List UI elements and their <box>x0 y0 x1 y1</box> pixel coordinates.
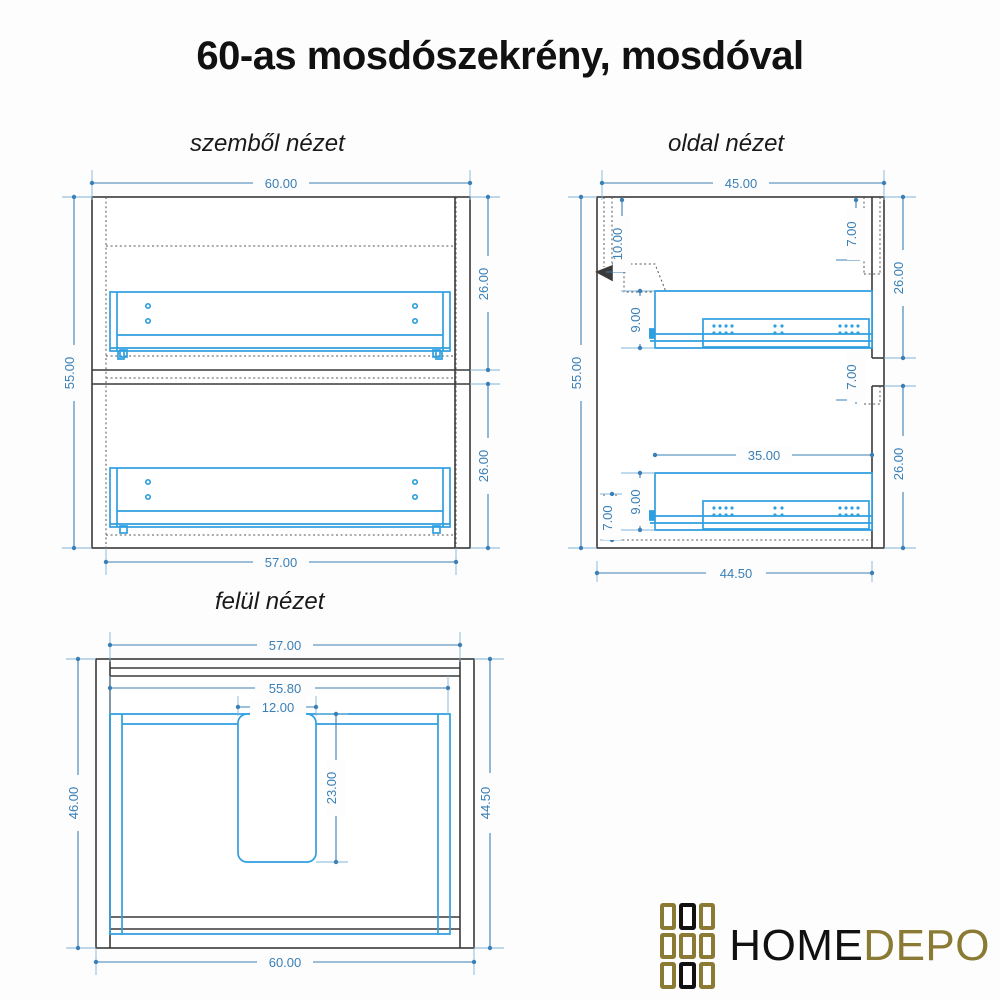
logo-cell <box>699 903 715 930</box>
dim-side-lower-height: 26.00 <box>891 448 906 481</box>
top-view-basin <box>110 714 450 934</box>
logo-cell <box>699 962 715 989</box>
dim-top-basin-depth: 23.00 <box>324 772 339 805</box>
top-view-geometry <box>96 659 474 948</box>
logo-cell <box>699 933 715 960</box>
dim-side-depth-outer: 45.00 <box>725 176 758 191</box>
dim-side-top-offset: 10.00 <box>610 228 625 261</box>
logo-text-depo: DEPO <box>863 921 990 970</box>
side-lower-drawer <box>648 473 872 530</box>
dim-top-width-outer: 60.00 <box>269 955 302 970</box>
front-view-geometry <box>92 197 470 548</box>
side-view-geometry <box>597 197 884 548</box>
dim-front-upper-height: 26.00 <box>476 268 491 301</box>
logo-cell <box>679 933 695 960</box>
dim-front-width-inner: 57.00 <box>265 555 298 570</box>
dim-front-width-outer: 60.00 <box>265 176 298 191</box>
dim-top-basin-top-width: 55.80 <box>269 681 302 696</box>
dim-side-slide-length: 35.00 <box>748 448 781 463</box>
logo-grid-icon <box>660 903 715 989</box>
logo-cell <box>679 903 695 930</box>
dim-side-height-total: 55.00 <box>569 357 584 390</box>
view-label-side: oldal nézet <box>668 130 784 158</box>
dim-side-depth-inner: 44.50 <box>720 566 753 581</box>
logo-cell <box>660 903 676 930</box>
dim-side-upper-front-height: 9.00 <box>628 307 643 332</box>
view-label-top: felül nézet <box>215 588 324 616</box>
front-lower-drawer <box>110 468 450 533</box>
dim-side-lower-front-height: 9.00 <box>628 489 643 514</box>
dim-front-height-total: 55.00 <box>62 357 77 390</box>
technical-drawing: 60.00 55.00 26.00 26.00 57.00 <box>0 0 1000 1000</box>
dim-top-cabinet-depth: 46.00 <box>66 787 81 820</box>
logo-cell <box>660 962 676 989</box>
logo-cell <box>679 962 695 989</box>
dim-side-back-offset-upper: 7.00 <box>844 221 859 246</box>
dim-side-back-offset-mid: 7.00 <box>844 364 859 389</box>
dim-side-upper-height: 26.00 <box>891 262 906 295</box>
dim-front-lower-height: 26.00 <box>476 450 491 483</box>
dim-top-basin-width: 12.00 <box>262 700 295 715</box>
drawing-canvas: 60-as mosdószekrény, mosdóval szemből né… <box>0 0 1000 1000</box>
logo-cell <box>660 933 676 960</box>
side-view-hidden-lines <box>604 197 880 540</box>
logo-wordmark: HOMEDEPO <box>729 921 990 971</box>
dim-top-overall-depth: 44.50 <box>478 787 493 820</box>
page-title: 60-as mosdószekrény, mosdóval <box>0 34 1000 79</box>
front-view-hidden-lines <box>106 197 456 548</box>
homedepo-logo[interactable]: HOMEDEPO <box>660 900 990 992</box>
view-label-front: szemből nézet <box>190 130 345 158</box>
side-upper-drawer <box>648 291 872 348</box>
dim-side-bottom-offset: 7.00 <box>600 505 615 530</box>
front-upper-drawer <box>110 292 450 359</box>
logo-text-home: HOME <box>729 921 863 970</box>
dim-top-width-inner: 57.00 <box>269 638 302 653</box>
